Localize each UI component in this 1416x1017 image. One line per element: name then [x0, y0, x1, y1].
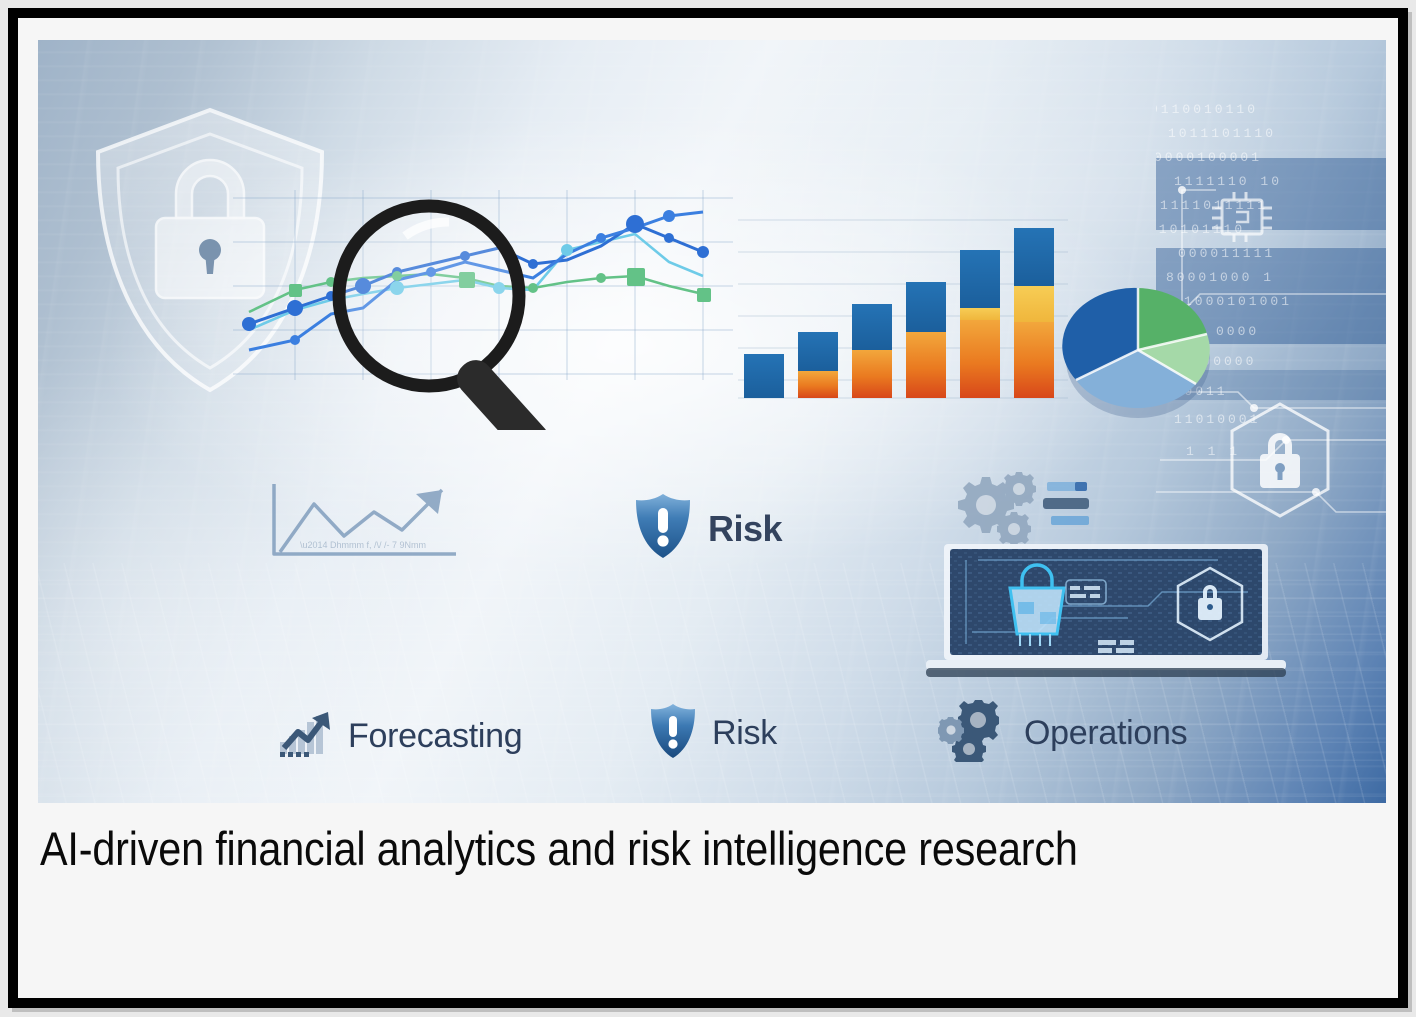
composition-pie-chart — [1058, 278, 1218, 433]
svg-text:\u2014 Dhmmm f, /\/ /- 7 9Nmm: \u2014 Dhmmm f, /\/ /- 7 9Nmm — [300, 540, 426, 550]
risk-badge-mid: Risk — [632, 492, 782, 565]
operations-label: Operations — [1024, 714, 1187, 753]
risk-label-mid: Risk — [708, 508, 782, 550]
figure-frame-inner: 0110010110 1011101110 0000100001 1111110… — [18, 18, 1398, 998]
feature-forecasting: Forecasting — [278, 708, 522, 765]
circuit-chip-icon — [1206, 188, 1278, 251]
figure-image: 0110010110 1011101110 0000100001 1111110… — [38, 40, 1386, 803]
forecasting-icon — [278, 708, 334, 765]
stacked-growth-bar-chart — [738, 208, 1068, 428]
risk-label: Risk — [712, 714, 777, 753]
laptop-security-icon — [918, 540, 1298, 695]
hexagon-lock-icon — [1226, 400, 1334, 525]
gears-icon — [938, 700, 1010, 767]
gears-icon — [943, 472, 1093, 549]
risk-shield-icon — [648, 702, 698, 765]
line-trend-chart — [233, 190, 733, 435]
forecasting-label: Forecasting — [348, 717, 522, 756]
magnifying-glass-icon — [339, 206, 556, 430]
feature-risk: Risk — [648, 702, 777, 765]
figure-frame: 0110010110 1011101110 0000100001 1111110… — [8, 8, 1408, 1008]
feature-operations: Operations — [938, 700, 1187, 767]
figure-caption: AI-driven financial analytics and risk i… — [40, 819, 1175, 879]
trend-arrow-icon: \u2014 Dhmmm f, /\/ /- 7 9Nmm — [266, 478, 466, 573]
risk-shield-icon — [632, 492, 694, 565]
feature-label-row: Forecasting — [38, 680, 1386, 790]
